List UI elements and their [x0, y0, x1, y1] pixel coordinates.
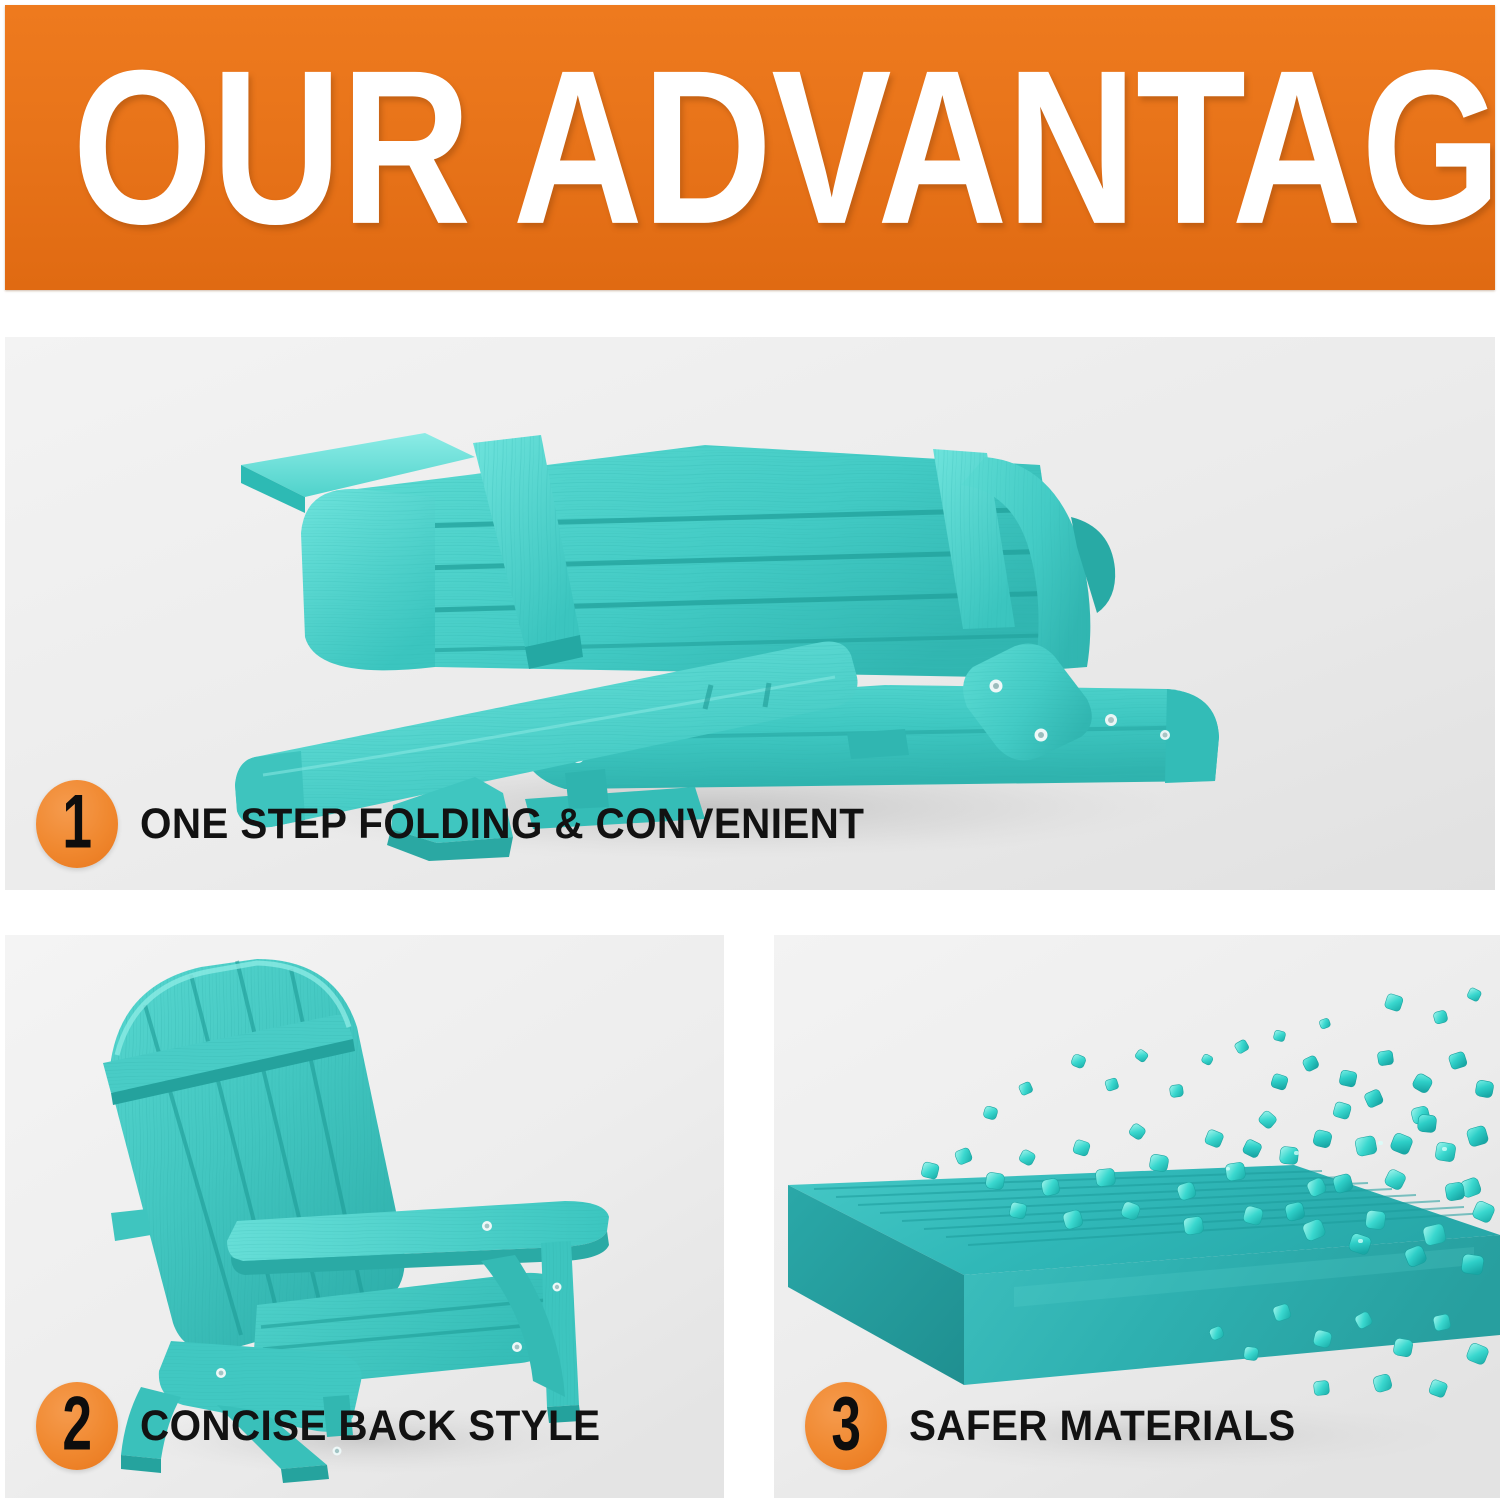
feature-number-badge-1: 1: [36, 780, 118, 868]
page-title-text: OUR ADVANTAGE: [72, 47, 1495, 249]
feature-number-2: 2: [62, 1373, 92, 1478]
feature-number-1: 1: [62, 771, 92, 876]
feature-label-1: ONE STEP FOLDING & CONVENIENT: [140, 800, 864, 849]
feature-number-badge-2: 2: [36, 1382, 118, 1470]
feature-caption-1: 1 ONE STEP FOLDING & CONVENIENT: [36, 780, 911, 868]
feature-number-3: 3: [831, 1373, 861, 1478]
feature-label-1-wrapper: ONE STEP FOLDING & CONVENIENT: [140, 800, 911, 849]
feature-label-3: SAFER MATERIALS: [909, 1402, 1296, 1451]
header-banner: OUR ADVANTAGE: [5, 5, 1495, 290]
page-title: OUR ADVANTAGE: [5, 57, 1495, 237]
feature-caption-3: 3 SAFER MATERIALS: [805, 1382, 1320, 1470]
feature-label-2-wrapper: CONCISE BACK STYLE: [140, 1402, 630, 1451]
feature-number-badge-3: 3: [805, 1382, 887, 1470]
feature-label-3-wrapper: SAFER MATERIALS: [909, 1402, 1320, 1451]
feature-label-2: CONCISE BACK STYLE: [140, 1402, 600, 1451]
feature-caption-2: 2 CONCISE BACK STYLE: [36, 1382, 630, 1470]
